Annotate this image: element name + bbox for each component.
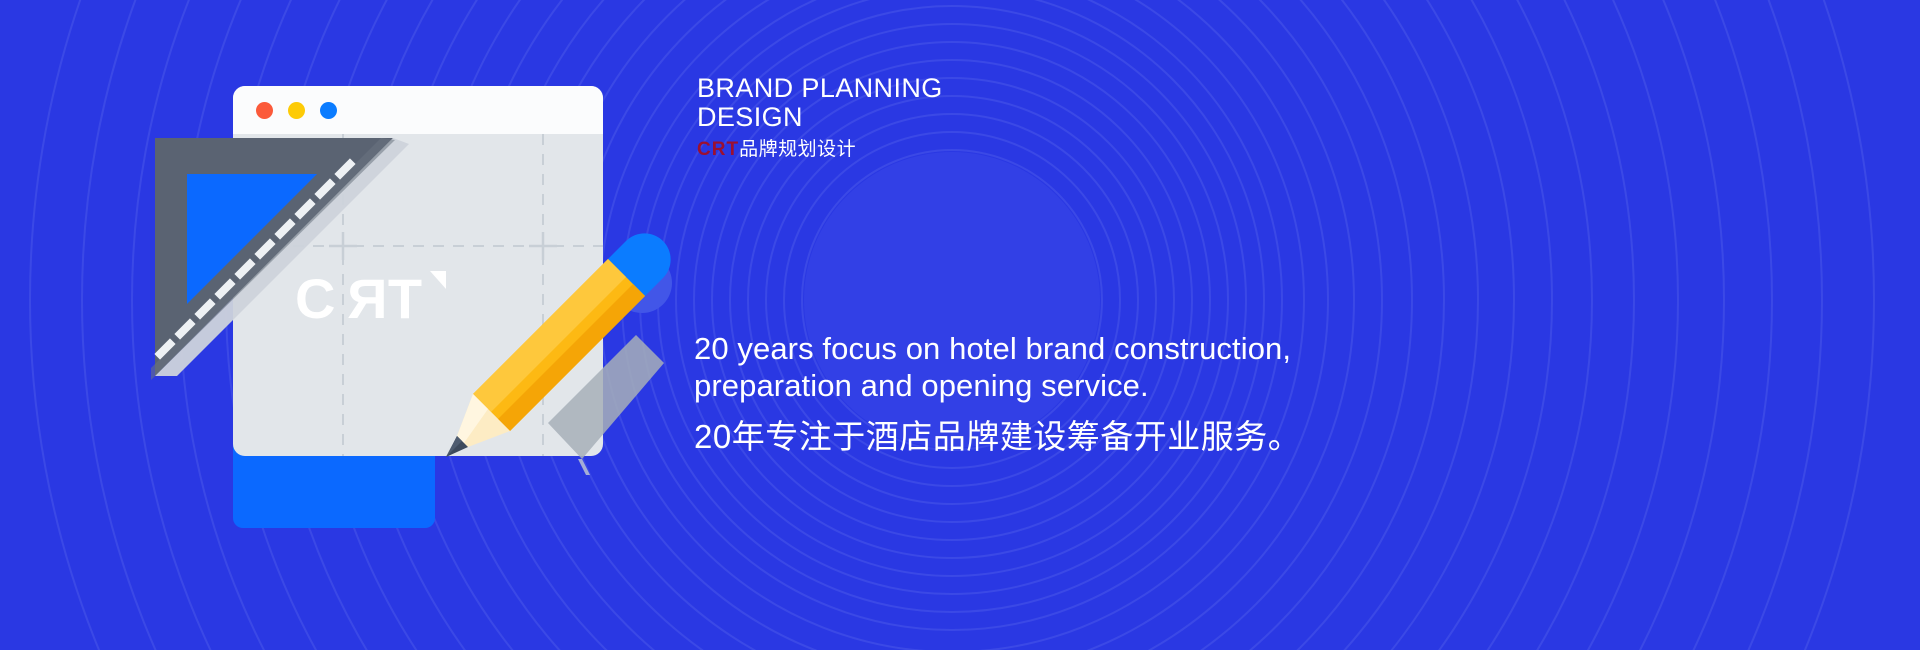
set-square-ruler-icon <box>145 130 445 380</box>
headline-chinese: 品牌规划设计 <box>739 139 856 160</box>
traffic-light-yellow-icon <box>288 102 305 119</box>
headline-english: BRAND PLANNING DESIGN <box>697 74 1317 132</box>
headline-block: BRAND PLANNING DESIGN CRT品牌规划设计 <box>697 74 1317 162</box>
window-titlebar <box>233 86 603 134</box>
traffic-light-red-icon <box>256 102 273 119</box>
traffic-light-blue-icon <box>320 102 337 119</box>
body-english: 20 years focus on hotel brand constructi… <box>694 330 1394 404</box>
body-copy-block: 20 years focus on hotel brand constructi… <box>694 330 1394 456</box>
brand-banner: CRT <box>0 0 1920 650</box>
headline-brand-mark: CRT <box>697 139 739 160</box>
pencil-icon <box>440 223 690 483</box>
body-chinese: 20年专注于酒店品牌建设筹备开业服务。 <box>694 418 1394 456</box>
headline-chinese-line: CRT品牌规划设计 <box>697 138 1317 162</box>
hero-illustration: CRT <box>185 78 685 478</box>
